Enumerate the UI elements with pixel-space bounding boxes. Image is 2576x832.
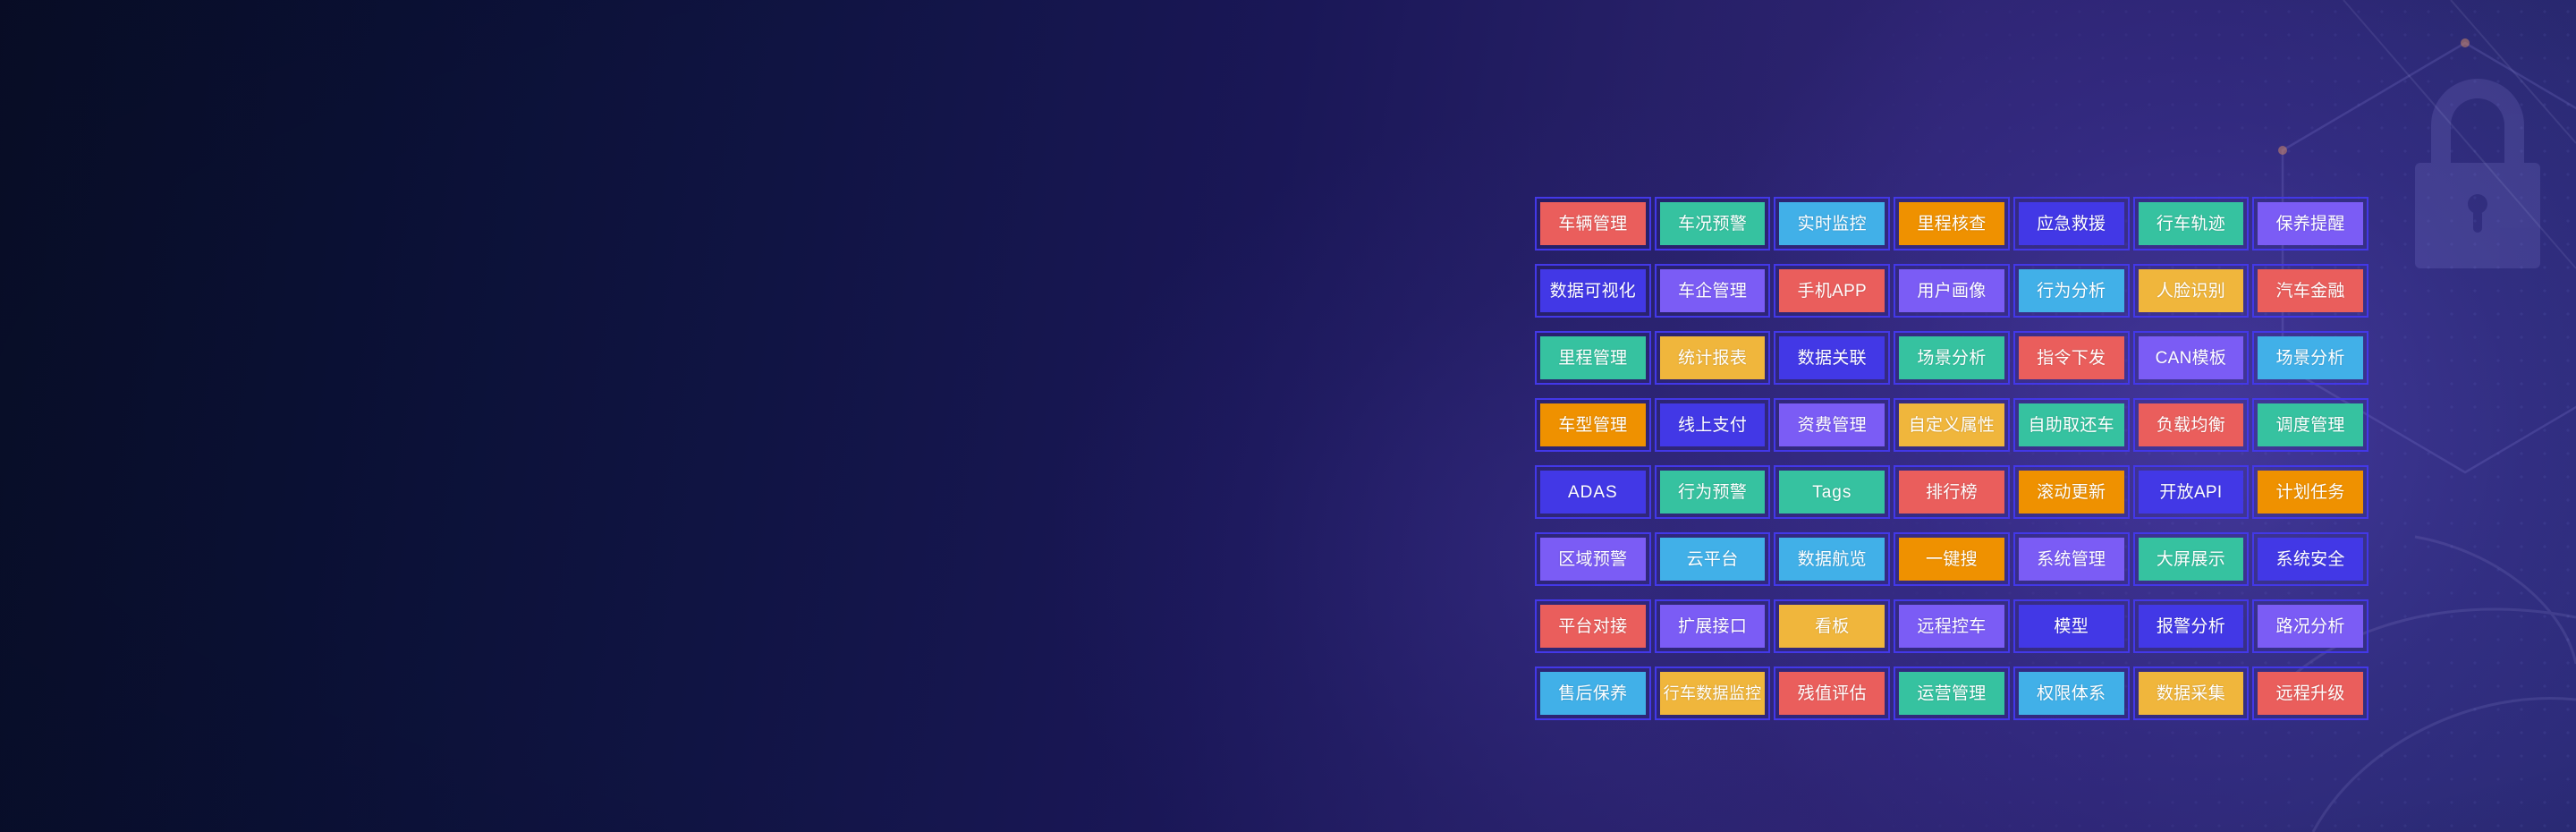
feature-tag-fill: 自定义属性 — [1899, 403, 2004, 446]
feature-tag-label: 滚动更新 — [2037, 484, 2106, 501]
feature-tag-fill: 数据航览 — [1779, 538, 1885, 581]
feature-tag[interactable]: 应急救援 — [2013, 197, 2130, 250]
feature-tag[interactable]: 行为预警 — [1655, 465, 1771, 519]
feature-tag-label: CAN模板 — [2156, 350, 2227, 367]
feature-tag-label: Tags — [1812, 484, 1851, 501]
feature-tag[interactable]: 手机APP — [1774, 264, 1890, 318]
feature-tag-label: 行为预警 — [1678, 484, 1747, 501]
feature-tag-fill: 一键搜 — [1899, 538, 2004, 581]
feature-tag[interactable]: 资费管理 — [1774, 398, 1890, 452]
feature-tag[interactable]: 模型 — [2013, 599, 2130, 653]
feature-tag[interactable]: 车型管理 — [1535, 398, 1651, 452]
feature-tag[interactable]: 调度管理 — [2252, 398, 2368, 452]
feature-tag[interactable]: 开放API — [2133, 465, 2250, 519]
feature-tag[interactable]: 场景分析 — [2252, 331, 2368, 385]
feature-tag-fill: 场景分析 — [1899, 336, 2004, 379]
feature-tag[interactable]: 数据关联 — [1774, 331, 1890, 385]
feature-tag[interactable]: 人脸识别 — [2133, 264, 2250, 318]
feature-tag-label: 行车数据监控 — [1664, 685, 1762, 701]
feature-tag[interactable]: 区域预警 — [1535, 532, 1651, 586]
feature-tag-fill: 区域预警 — [1540, 538, 1646, 581]
feature-tag-label: 实时监控 — [1798, 216, 1867, 233]
feature-tag-label: 排行榜 — [1926, 484, 1978, 501]
feature-tag-label: 看板 — [1815, 618, 1850, 635]
feature-tag-fill: 云平台 — [1660, 538, 1766, 581]
screen: 车辆管理车况预警实时监控里程核查应急救援行车轨迹保养提醒数据可视化车企管理手机A… — [0, 0, 2576, 832]
feature-tag[interactable]: 统计报表 — [1655, 331, 1771, 385]
feature-tag-fill: ADAS — [1540, 471, 1646, 514]
feature-tag-fill: 权限体系 — [2019, 672, 2124, 715]
feature-tag-fill: 行为分析 — [2019, 269, 2124, 312]
feature-tag-fill: 手机APP — [1779, 269, 1885, 312]
feature-tag-fill: 残值评估 — [1779, 672, 1885, 715]
feature-tag[interactable]: 数据航览 — [1774, 532, 1890, 586]
feature-tag[interactable]: 指令下发 — [2013, 331, 2130, 385]
feature-tag-fill: 运营管理 — [1899, 672, 2004, 715]
feature-tag-label: 扩展接口 — [1678, 618, 1747, 635]
feature-tag[interactable]: 数据采集 — [2133, 666, 2250, 720]
feature-tag-fill: 用户画像 — [1899, 269, 2004, 312]
feature-tag[interactable]: 保养提醒 — [2252, 197, 2368, 250]
feature-tag-label: 线上支付 — [1678, 417, 1747, 434]
feature-tag-fill: 实时监控 — [1779, 202, 1885, 245]
feature-tag-fill: 数据采集 — [2139, 672, 2244, 715]
feature-tag[interactable]: 行车轨迹 — [2133, 197, 2250, 250]
feature-tag[interactable]: 系统管理 — [2013, 532, 2130, 586]
feature-tag[interactable]: 线上支付 — [1655, 398, 1771, 452]
feature-tag[interactable]: 扩展接口 — [1655, 599, 1771, 653]
feature-tag-fill: 远程控车 — [1899, 605, 2004, 648]
feature-tag-fill: 行车轨迹 — [2139, 202, 2244, 245]
feature-tag[interactable]: 汽车金融 — [2252, 264, 2368, 318]
feature-tag-fill: 车况预警 — [1660, 202, 1766, 245]
feature-tag-fill: 售后保养 — [1540, 672, 1646, 715]
feature-tag[interactable]: 计划任务 — [2252, 465, 2368, 519]
feature-tag-fill: 大屏展示 — [2139, 538, 2244, 581]
feature-tag[interactable]: 看板 — [1774, 599, 1890, 653]
feature-tag-label: 数据可视化 — [1550, 283, 1637, 300]
feature-tag-label: 里程管理 — [1558, 350, 1627, 367]
feature-tag-label: 数据采集 — [2157, 685, 2225, 702]
feature-tag[interactable]: 滚动更新 — [2013, 465, 2130, 519]
feature-tag-fill: 数据关联 — [1779, 336, 1885, 379]
feature-tag[interactable]: 运营管理 — [1894, 666, 2010, 720]
feature-tag-fill: 行为预警 — [1660, 471, 1766, 514]
feature-tag-label: 计划任务 — [2276, 484, 2345, 501]
feature-tag-fill: 数据可视化 — [1540, 269, 1646, 312]
feature-tag[interactable]: 场景分析 — [1894, 331, 2010, 385]
feature-tag-label: 行为分析 — [2037, 283, 2106, 300]
feature-tag-fill: 场景分析 — [2258, 336, 2363, 379]
feature-tag[interactable]: 负载均衡 — [2133, 398, 2250, 452]
feature-tag[interactable]: 路况分析 — [2252, 599, 2368, 653]
feature-tag-fill: 行车数据监控 — [1660, 672, 1766, 715]
feature-tag-fill: 里程核查 — [1899, 202, 2004, 245]
feature-tag-label: 资费管理 — [1798, 417, 1867, 434]
feature-tag-fill: 统计报表 — [1660, 336, 1766, 379]
feature-tag-fill: 系统管理 — [2019, 538, 2124, 581]
feature-tag[interactable]: ADAS — [1535, 465, 1651, 519]
feature-tag[interactable]: 系统安全 — [2252, 532, 2368, 586]
feature-tag-fill: Tags — [1779, 471, 1885, 514]
feature-tag-fill: 看板 — [1779, 605, 1885, 648]
feature-tag-label: 汽车金融 — [2276, 283, 2345, 300]
feature-tag-label: 区域预警 — [1558, 551, 1627, 568]
feature-tag[interactable]: 云平台 — [1655, 532, 1771, 586]
feature-tag-label: 售后保养 — [1558, 685, 1627, 702]
feature-tag[interactable]: 数据可视化 — [1535, 264, 1651, 318]
feature-tag-label: 人脸识别 — [2157, 283, 2225, 300]
feature-tag-fill: 保养提醒 — [2258, 202, 2363, 245]
feature-tag[interactable]: 车企管理 — [1655, 264, 1771, 318]
feature-tag[interactable]: 残值评估 — [1774, 666, 1890, 720]
feature-tag-label: 一键搜 — [1926, 551, 1978, 568]
feature-tag-fill: 指令下发 — [2019, 336, 2124, 379]
feature-tag[interactable]: 权限体系 — [2013, 666, 2130, 720]
feature-tag-fill: 人脸识别 — [2139, 269, 2244, 312]
feature-tag-fill: 报警分析 — [2139, 605, 2244, 648]
feature-tag-fill: 计划任务 — [2258, 471, 2363, 514]
feature-tag-label: 车型管理 — [1558, 417, 1627, 434]
feature-tag-label: 数据关联 — [1798, 350, 1867, 367]
feature-tag-label: 运营管理 — [1917, 685, 1986, 702]
feature-tag[interactable]: 排行榜 — [1894, 465, 2010, 519]
feature-tag-fill: 资费管理 — [1779, 403, 1885, 446]
feature-tag-label: 数据航览 — [1798, 551, 1867, 568]
feature-tag-label: 调度管理 — [2276, 417, 2345, 434]
feature-tag-label: 行车轨迹 — [2157, 216, 2225, 233]
feature-tag-label: 场景分析 — [1917, 350, 1986, 367]
feature-tag-label: 车企管理 — [1678, 283, 1747, 300]
feature-tag[interactable]: 一键搜 — [1894, 532, 2010, 586]
feature-tag[interactable]: 售后保养 — [1535, 666, 1651, 720]
feature-tag-label: 开放API — [2159, 484, 2222, 501]
feature-tag-fill: 里程管理 — [1540, 336, 1646, 379]
feature-tag-fill: 平台对接 — [1540, 605, 1646, 648]
feature-tag-fill: 线上支付 — [1660, 403, 1766, 446]
feature-tag[interactable]: 平台对接 — [1535, 599, 1651, 653]
feature-tag-fill: 车型管理 — [1540, 403, 1646, 446]
feature-tag-label: 远程升级 — [2276, 685, 2345, 702]
feature-tag-label: 残值评估 — [1798, 685, 1867, 702]
feature-tag[interactable]: 用户画像 — [1894, 264, 2010, 318]
feature-tag-label: 保养提醒 — [2276, 216, 2345, 233]
feature-tag-label: 负载均衡 — [2157, 417, 2225, 434]
feature-tag-fill: 车辆管理 — [1540, 202, 1646, 245]
feature-tag-fill: 滚动更新 — [2019, 471, 2124, 514]
feature-tag-label: 模型 — [2054, 618, 2089, 635]
feature-tag-fill: 模型 — [2019, 605, 2124, 648]
feature-tag[interactable]: 报警分析 — [2133, 599, 2250, 653]
feature-tag[interactable]: 里程核查 — [1894, 197, 2010, 250]
feature-tag-label: 统计报表 — [1678, 350, 1747, 367]
feature-tag-grid: 车辆管理车况预警实时监控里程核查应急救援行车轨迹保养提醒数据可视化车企管理手机A… — [1535, 197, 2368, 720]
feature-tag[interactable]: 实时监控 — [1774, 197, 1890, 250]
feature-tag-fill: 扩展接口 — [1660, 605, 1766, 648]
feature-tag[interactable]: 大屏展示 — [2133, 532, 2250, 586]
feature-tag-label: 场景分析 — [2276, 350, 2345, 367]
feature-tag-label: 大屏展示 — [2157, 551, 2225, 568]
feature-tag[interactable]: 远程控车 — [1894, 599, 2010, 653]
feature-tag-fill: 车企管理 — [1660, 269, 1766, 312]
feature-tag-label: 路况分析 — [2276, 618, 2345, 635]
feature-tag-label: 报警分析 — [2157, 618, 2225, 635]
feature-tag-fill: 开放API — [2139, 471, 2244, 514]
feature-tag-label: 权限体系 — [2037, 685, 2106, 702]
feature-tag-label: 里程核查 — [1917, 216, 1986, 233]
feature-tag[interactable]: 车辆管理 — [1535, 197, 1651, 250]
feature-tag[interactable]: 车况预警 — [1655, 197, 1771, 250]
feature-tag-label: 系统管理 — [2037, 551, 2106, 568]
feature-tag[interactable]: 自助取还车 — [2013, 398, 2130, 452]
feature-tag-label: 自助取还车 — [2028, 417, 2114, 434]
feature-tag-fill: 负载均衡 — [2139, 403, 2244, 446]
feature-tag[interactable]: 自定义属性 — [1894, 398, 2010, 452]
feature-tag[interactable]: 行为分析 — [2013, 264, 2130, 318]
feature-tag-fill: 调度管理 — [2258, 403, 2363, 446]
feature-tag-fill: 应急救援 — [2019, 202, 2124, 245]
feature-tag[interactable]: 里程管理 — [1535, 331, 1651, 385]
feature-tag-label: 云平台 — [1687, 551, 1739, 568]
feature-tag-fill: 汽车金融 — [2258, 269, 2363, 312]
feature-tag-fill: 远程升级 — [2258, 672, 2363, 715]
feature-tag-label: 车辆管理 — [1558, 216, 1627, 233]
feature-tag[interactable]: CAN模板 — [2133, 331, 2250, 385]
feature-tag[interactable]: 远程升级 — [2252, 666, 2368, 720]
feature-tag-label: 指令下发 — [2037, 350, 2106, 367]
feature-tag-label: 远程控车 — [1917, 618, 1986, 635]
feature-tag-fill: 排行榜 — [1899, 471, 2004, 514]
feature-tag-fill: 系统安全 — [2258, 538, 2363, 581]
feature-tag-label: ADAS — [1568, 484, 1618, 501]
feature-tag-label: 自定义属性 — [1909, 417, 1996, 434]
feature-tag[interactable]: Tags — [1774, 465, 1890, 519]
feature-tag[interactable]: 行车数据监控 — [1655, 666, 1771, 720]
feature-tag-fill: CAN模板 — [2139, 336, 2244, 379]
feature-tag-label: 手机APP — [1798, 283, 1868, 300]
feature-tag-label: 用户画像 — [1917, 283, 1986, 300]
feature-tag-fill: 自助取还车 — [2019, 403, 2124, 446]
feature-tag-label: 应急救援 — [2037, 216, 2106, 233]
feature-tag-label: 车况预警 — [1678, 216, 1747, 233]
feature-tag-label: 平台对接 — [1558, 618, 1627, 635]
feature-tag-fill: 路况分析 — [2258, 605, 2363, 648]
feature-tag-label: 系统安全 — [2276, 551, 2345, 568]
